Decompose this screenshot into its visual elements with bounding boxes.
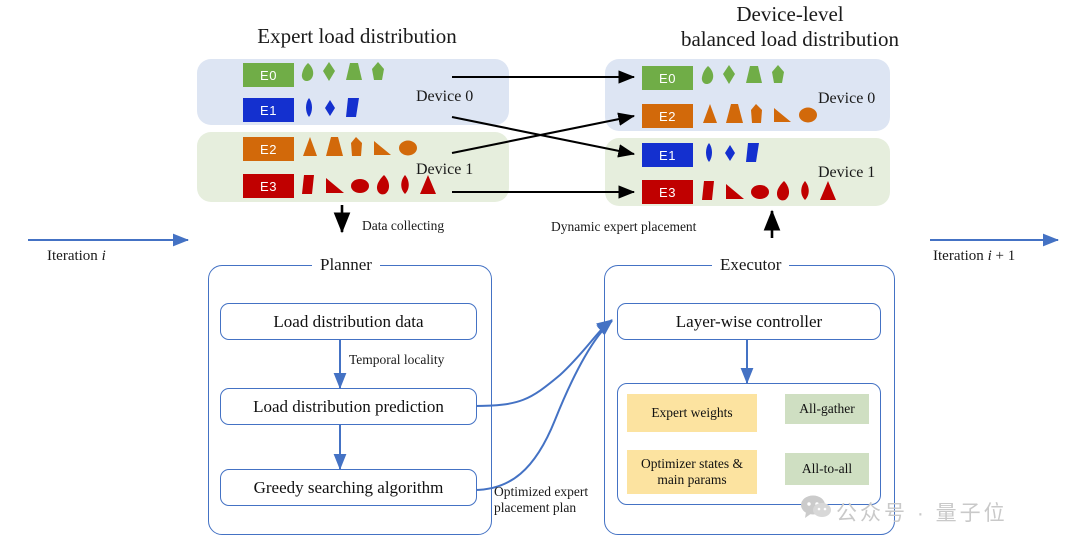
tile-all-to-all-label: All-to-all [802, 461, 852, 477]
planner-step-greedy-searching-algorithm[interactable]: Greedy searching algorithm [220, 469, 477, 506]
arrow-prediction-to-executor [474, 320, 612, 406]
iteration-right-suffix: + 1 [992, 248, 1015, 264]
label-temporal-locality: Temporal locality [349, 352, 444, 368]
diagram-canvas: Expert load distribution Device-level ba… [0, 0, 1080, 546]
label-dynamic-expert-placement: Dynamic expert placement [551, 219, 696, 235]
planner-step-3-label: Greedy searching algorithm [254, 478, 444, 498]
wechat-icon [800, 493, 830, 521]
iteration-right-prefix: Iteration [933, 248, 988, 264]
planner-step-load-distribution-data[interactable]: Load distribution data [220, 303, 477, 340]
executor-title: Executor [712, 255, 789, 275]
iteration-left-prefix: Iteration [47, 248, 102, 264]
tile-all-gather[interactable]: All-gather [785, 394, 869, 424]
tile-optimizer-states-label: Optimizer states & main params [641, 456, 743, 487]
label-iteration-right: Iteration i + 1 [933, 248, 1015, 265]
label-data-collecting: Data collecting [362, 218, 444, 234]
planner-step-load-distribution-prediction[interactable]: Load distribution prediction [220, 388, 477, 425]
watermark-text: 公众号 · 量子位 [836, 497, 1008, 527]
iteration-left-var: i [102, 248, 106, 264]
tile-expert-weights-label: Expert weights [651, 405, 732, 421]
planner-step-1-label: Load distribution data [273, 312, 423, 332]
expert-migration-arrows [0, 0, 1080, 546]
tile-expert-weights[interactable]: Expert weights [627, 394, 757, 432]
tile-all-gather-label: All-gather [799, 401, 854, 417]
label-iteration-left: Iteration i [47, 248, 106, 265]
label-optimized-placement-plan: Optimized expert placement plan [494, 484, 588, 516]
planner-step-2-label: Load distribution prediction [253, 397, 444, 417]
executor-layer-wise-controller[interactable]: Layer-wise controller [617, 303, 881, 340]
tile-all-to-all[interactable]: All-to-all [785, 453, 869, 485]
executor-controller-label: Layer-wise controller [676, 312, 822, 332]
planner-title: Planner [312, 255, 380, 275]
tile-optimizer-states[interactable]: Optimizer states & main params [627, 450, 757, 494]
